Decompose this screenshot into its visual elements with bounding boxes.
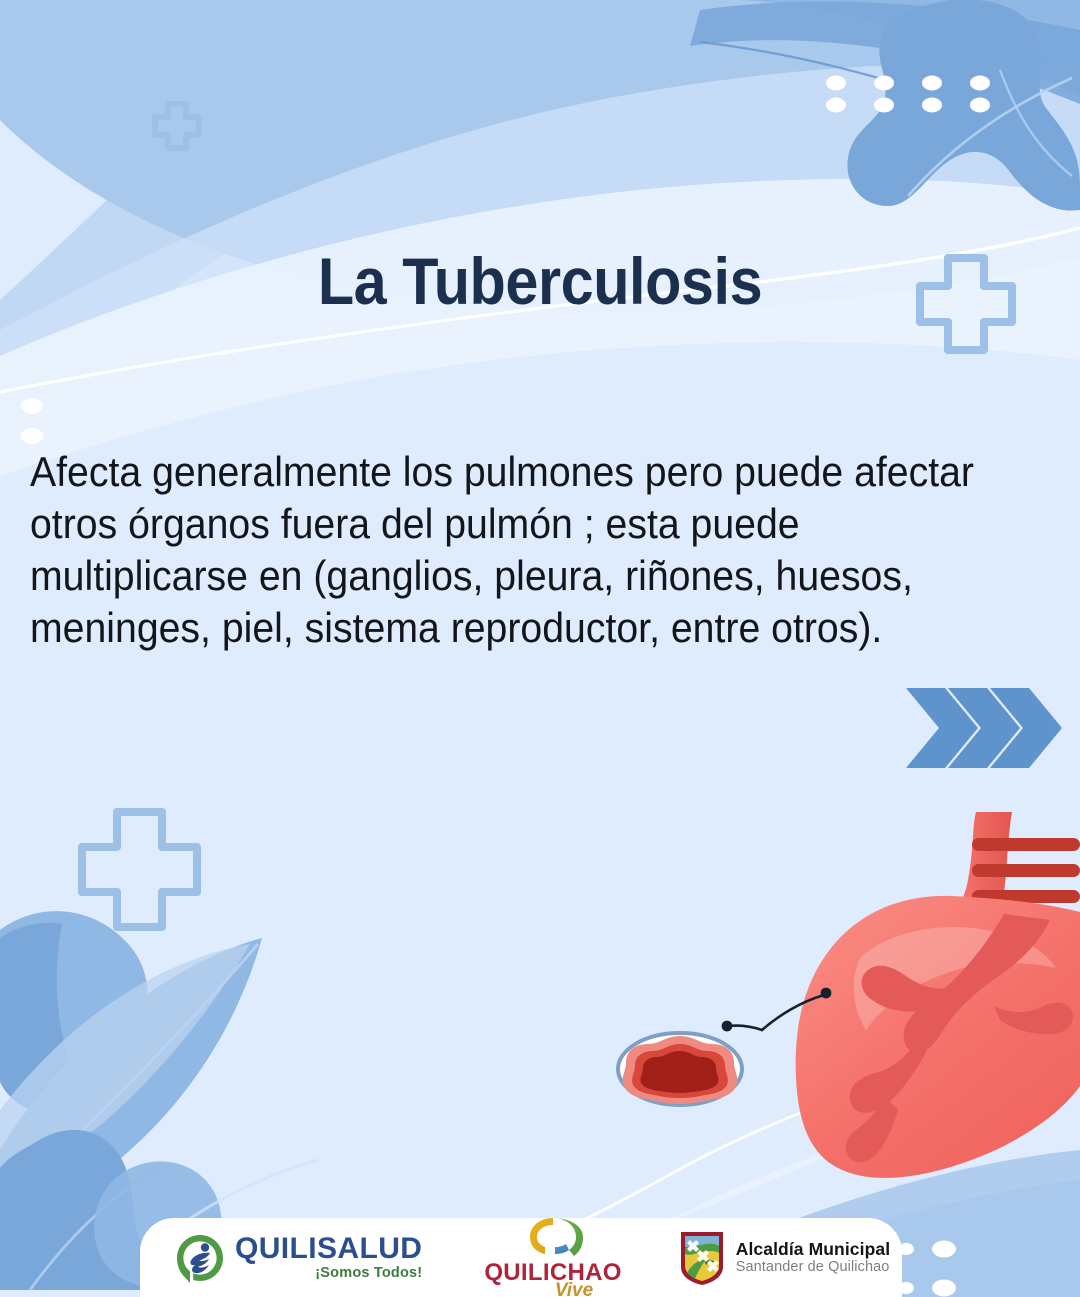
q-swoosh-person-icon [174,1232,226,1284]
pointer-dot-lung [821,988,832,999]
logo-quilichao: QUILICHAO Vive [484,1218,621,1297]
page-title: La Tuberculosis [54,248,1026,314]
quilisalud-name: QUILISALUD [235,1234,422,1264]
quilisalud-tagline: ¡Somos Todos! [235,1266,422,1281]
heart-in-ring-icon [516,1216,590,1256]
trachea-ring-2 [972,864,1080,877]
logo-quilisalud: QUILISALUD ¡Somos Todos! [174,1218,422,1297]
poster-canvas: La Tuberculosis Afecta generalmente los … [0,0,1080,1297]
quilichao-name: QUILICHAO [484,1261,621,1285]
footer-logo-bar: QUILISALUD ¡Somos Todos! QUILICHAO Vive [140,1218,902,1297]
alcaldia-tagline: Santander de Quilichao [736,1259,890,1276]
alcaldia-name: Alcaldía Municipal [736,1239,890,1259]
tuberculosis-lesion-closeup [618,1033,742,1105]
body-paragraph: Afecta generalmente los pulmones pero pu… [30,446,1018,654]
trachea-ring-1 [972,838,1080,851]
logo-alcaldia: Alcaldía Municipal Santander de Quilicha… [678,1218,890,1297]
municipal-shield-icon [678,1229,726,1287]
